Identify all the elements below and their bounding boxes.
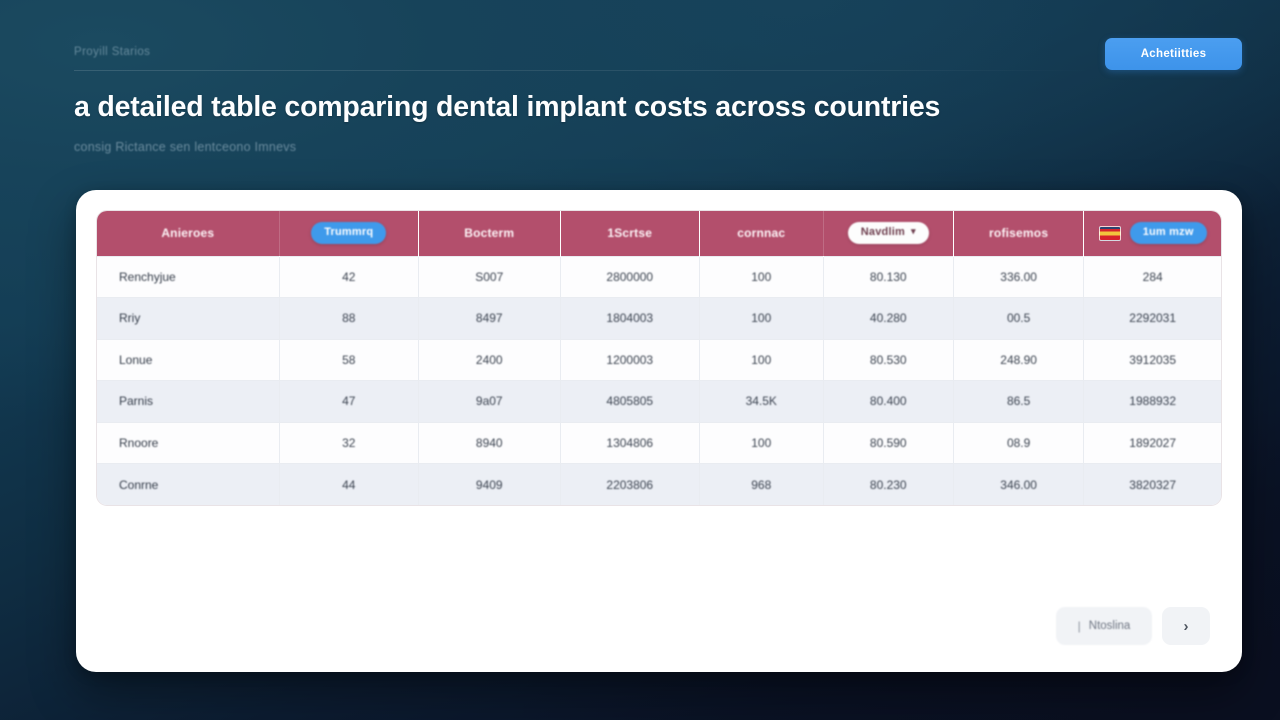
table-cell: 88 <box>279 298 418 340</box>
table-cell: 00.5 <box>953 298 1083 340</box>
table-cell: 346.00 <box>953 464 1083 506</box>
page-prev-bar-icon: | <box>1078 619 1081 633</box>
table-header-cell-3[interactable]: 1Scrtse <box>560 211 699 256</box>
table-cell: 2400 <box>418 339 560 381</box>
row-label-cell: Conrne <box>97 464 279 506</box>
table-cell: 100 <box>699 339 823 381</box>
data-table-container: AnieroesTrummrqBocterm1ScrtsecornnacNavd… <box>96 210 1222 506</box>
table-cell: 2800000 <box>560 256 699 298</box>
table-cell: 80.590 <box>823 422 953 464</box>
table-cell: 44 <box>279 464 418 506</box>
action-button[interactable]: Achetiitties <box>1105 38 1242 70</box>
table-cell: 1804003 <box>560 298 699 340</box>
table-header-cell-0[interactable]: Anieroes <box>97 211 279 256</box>
table-cell: 47 <box>279 381 418 423</box>
table-row[interactable]: Conrne449409220380696880.230346.00382032… <box>97 464 1221 506</box>
header-dropdown-label: Navdlim <box>861 226 905 238</box>
table-cell: 100 <box>699 256 823 298</box>
row-label-cell: Rnoore <box>97 422 279 464</box>
table-cell: 32 <box>279 422 418 464</box>
table-cell: 80.400 <box>823 381 953 423</box>
table-cell: 34.5K <box>699 381 823 423</box>
table-cell: 40.280 <box>823 298 953 340</box>
row-label-cell: Rriy <box>97 298 279 340</box>
previous-page-button[interactable]: | Ntoslina <box>1056 607 1152 645</box>
table-header-cell-2[interactable]: Bocterm <box>418 211 560 256</box>
table-cell: 2292031 <box>1084 298 1221 340</box>
table-cell: 1200003 <box>560 339 699 381</box>
table-cell: 86.5 <box>953 381 1083 423</box>
table-cell: 4805805 <box>560 381 699 423</box>
table-cell: 284 <box>1084 256 1221 298</box>
table-cell: 80.530 <box>823 339 953 381</box>
table-header-cell-7[interactable]: 1um mzw <box>1084 211 1221 256</box>
table-cell: 42 <box>279 256 418 298</box>
table-cell: S007 <box>418 256 560 298</box>
pagination: | Ntoslina › <box>1056 607 1210 645</box>
table-row[interactable]: Rriy888497180400310040.28000.52292031 <box>97 298 1221 340</box>
table-row[interactable]: Parnis479a07480580534.5K80.40086.5198893… <box>97 381 1221 423</box>
table-cell: 3912035 <box>1084 339 1221 381</box>
page-subtitle: consig Rictance sen lentceono Imnevs <box>74 140 296 154</box>
table-cell: 8497 <box>418 298 560 340</box>
table-cell: 1892027 <box>1084 422 1221 464</box>
table-header-cell-6[interactable]: rofisemos <box>953 211 1083 256</box>
table-header-row: AnieroesTrummrqBocterm1ScrtsecornnacNavd… <box>97 211 1221 256</box>
row-label-cell: Parnis <box>97 381 279 423</box>
table-cell: 336.00 <box>953 256 1083 298</box>
table-cell: 100 <box>699 422 823 464</box>
table-body: Renchyjue42S007280000010080.130336.00284… <box>97 256 1221 505</box>
table-header-cell-5[interactable]: Navdlim▾ <box>823 211 953 256</box>
table-row[interactable]: Rnoore328940130480610080.59008.91892027 <box>97 422 1221 464</box>
table-card: AnieroesTrummrqBocterm1ScrtsecornnacNavd… <box>76 190 1242 672</box>
header-chip-badge[interactable]: Trummrq <box>311 222 386 244</box>
app-root: Proyill Starios Achetiitties a detailed … <box>0 0 1280 720</box>
flag-spain-icon <box>1099 226 1121 241</box>
table-cell: 1304806 <box>560 422 699 464</box>
breadcrumb[interactable]: Proyill Starios <box>74 46 150 58</box>
table-cell: 9a07 <box>418 381 560 423</box>
header-chip-badge[interactable]: 1um mzw <box>1130 222 1207 244</box>
topbar-divider <box>74 70 1096 71</box>
chevron-right-icon: › <box>1184 618 1189 635</box>
table-header: AnieroesTrummrqBocterm1ScrtsecornnacNavd… <box>97 211 1221 256</box>
table-cell: 9409 <box>418 464 560 506</box>
row-label-cell: Renchyjue <box>97 256 279 298</box>
table-row[interactable]: Renchyjue42S007280000010080.130336.00284 <box>97 256 1221 298</box>
previous-page-label: Ntoslina <box>1089 620 1131 632</box>
topbar: Proyill Starios Achetiitties <box>74 38 1242 74</box>
table-header-cell-1[interactable]: Trummrq <box>279 211 418 256</box>
table-cell: 2203806 <box>560 464 699 506</box>
header-dropdown-chip[interactable]: Navdlim▾ <box>848 222 929 244</box>
next-page-button[interactable]: › <box>1162 607 1210 645</box>
table-cell: 968 <box>699 464 823 506</box>
table-cell: 58 <box>279 339 418 381</box>
table-cell: 3820327 <box>1084 464 1221 506</box>
table-cell: 248.90 <box>953 339 1083 381</box>
table-cell: 08.9 <box>953 422 1083 464</box>
table-cell: 100 <box>699 298 823 340</box>
table-header-cell-4[interactable]: cornnac <box>699 211 823 256</box>
table-cell: 1988932 <box>1084 381 1221 423</box>
table-cell: 80.230 <box>823 464 953 506</box>
table-cell: 8940 <box>418 422 560 464</box>
data-table: AnieroesTrummrqBocterm1ScrtsecornnacNavd… <box>97 211 1221 505</box>
table-row[interactable]: Lonue582400120000310080.530248.903912035 <box>97 339 1221 381</box>
chevron-down-icon: ▾ <box>911 226 916 237</box>
page-title: a detailed table comparing dental implan… <box>74 91 940 124</box>
table-cell: 80.130 <box>823 256 953 298</box>
header-flag-group: 1um mzw <box>1090 222 1215 244</box>
row-label-cell: Lonue <box>97 339 279 381</box>
